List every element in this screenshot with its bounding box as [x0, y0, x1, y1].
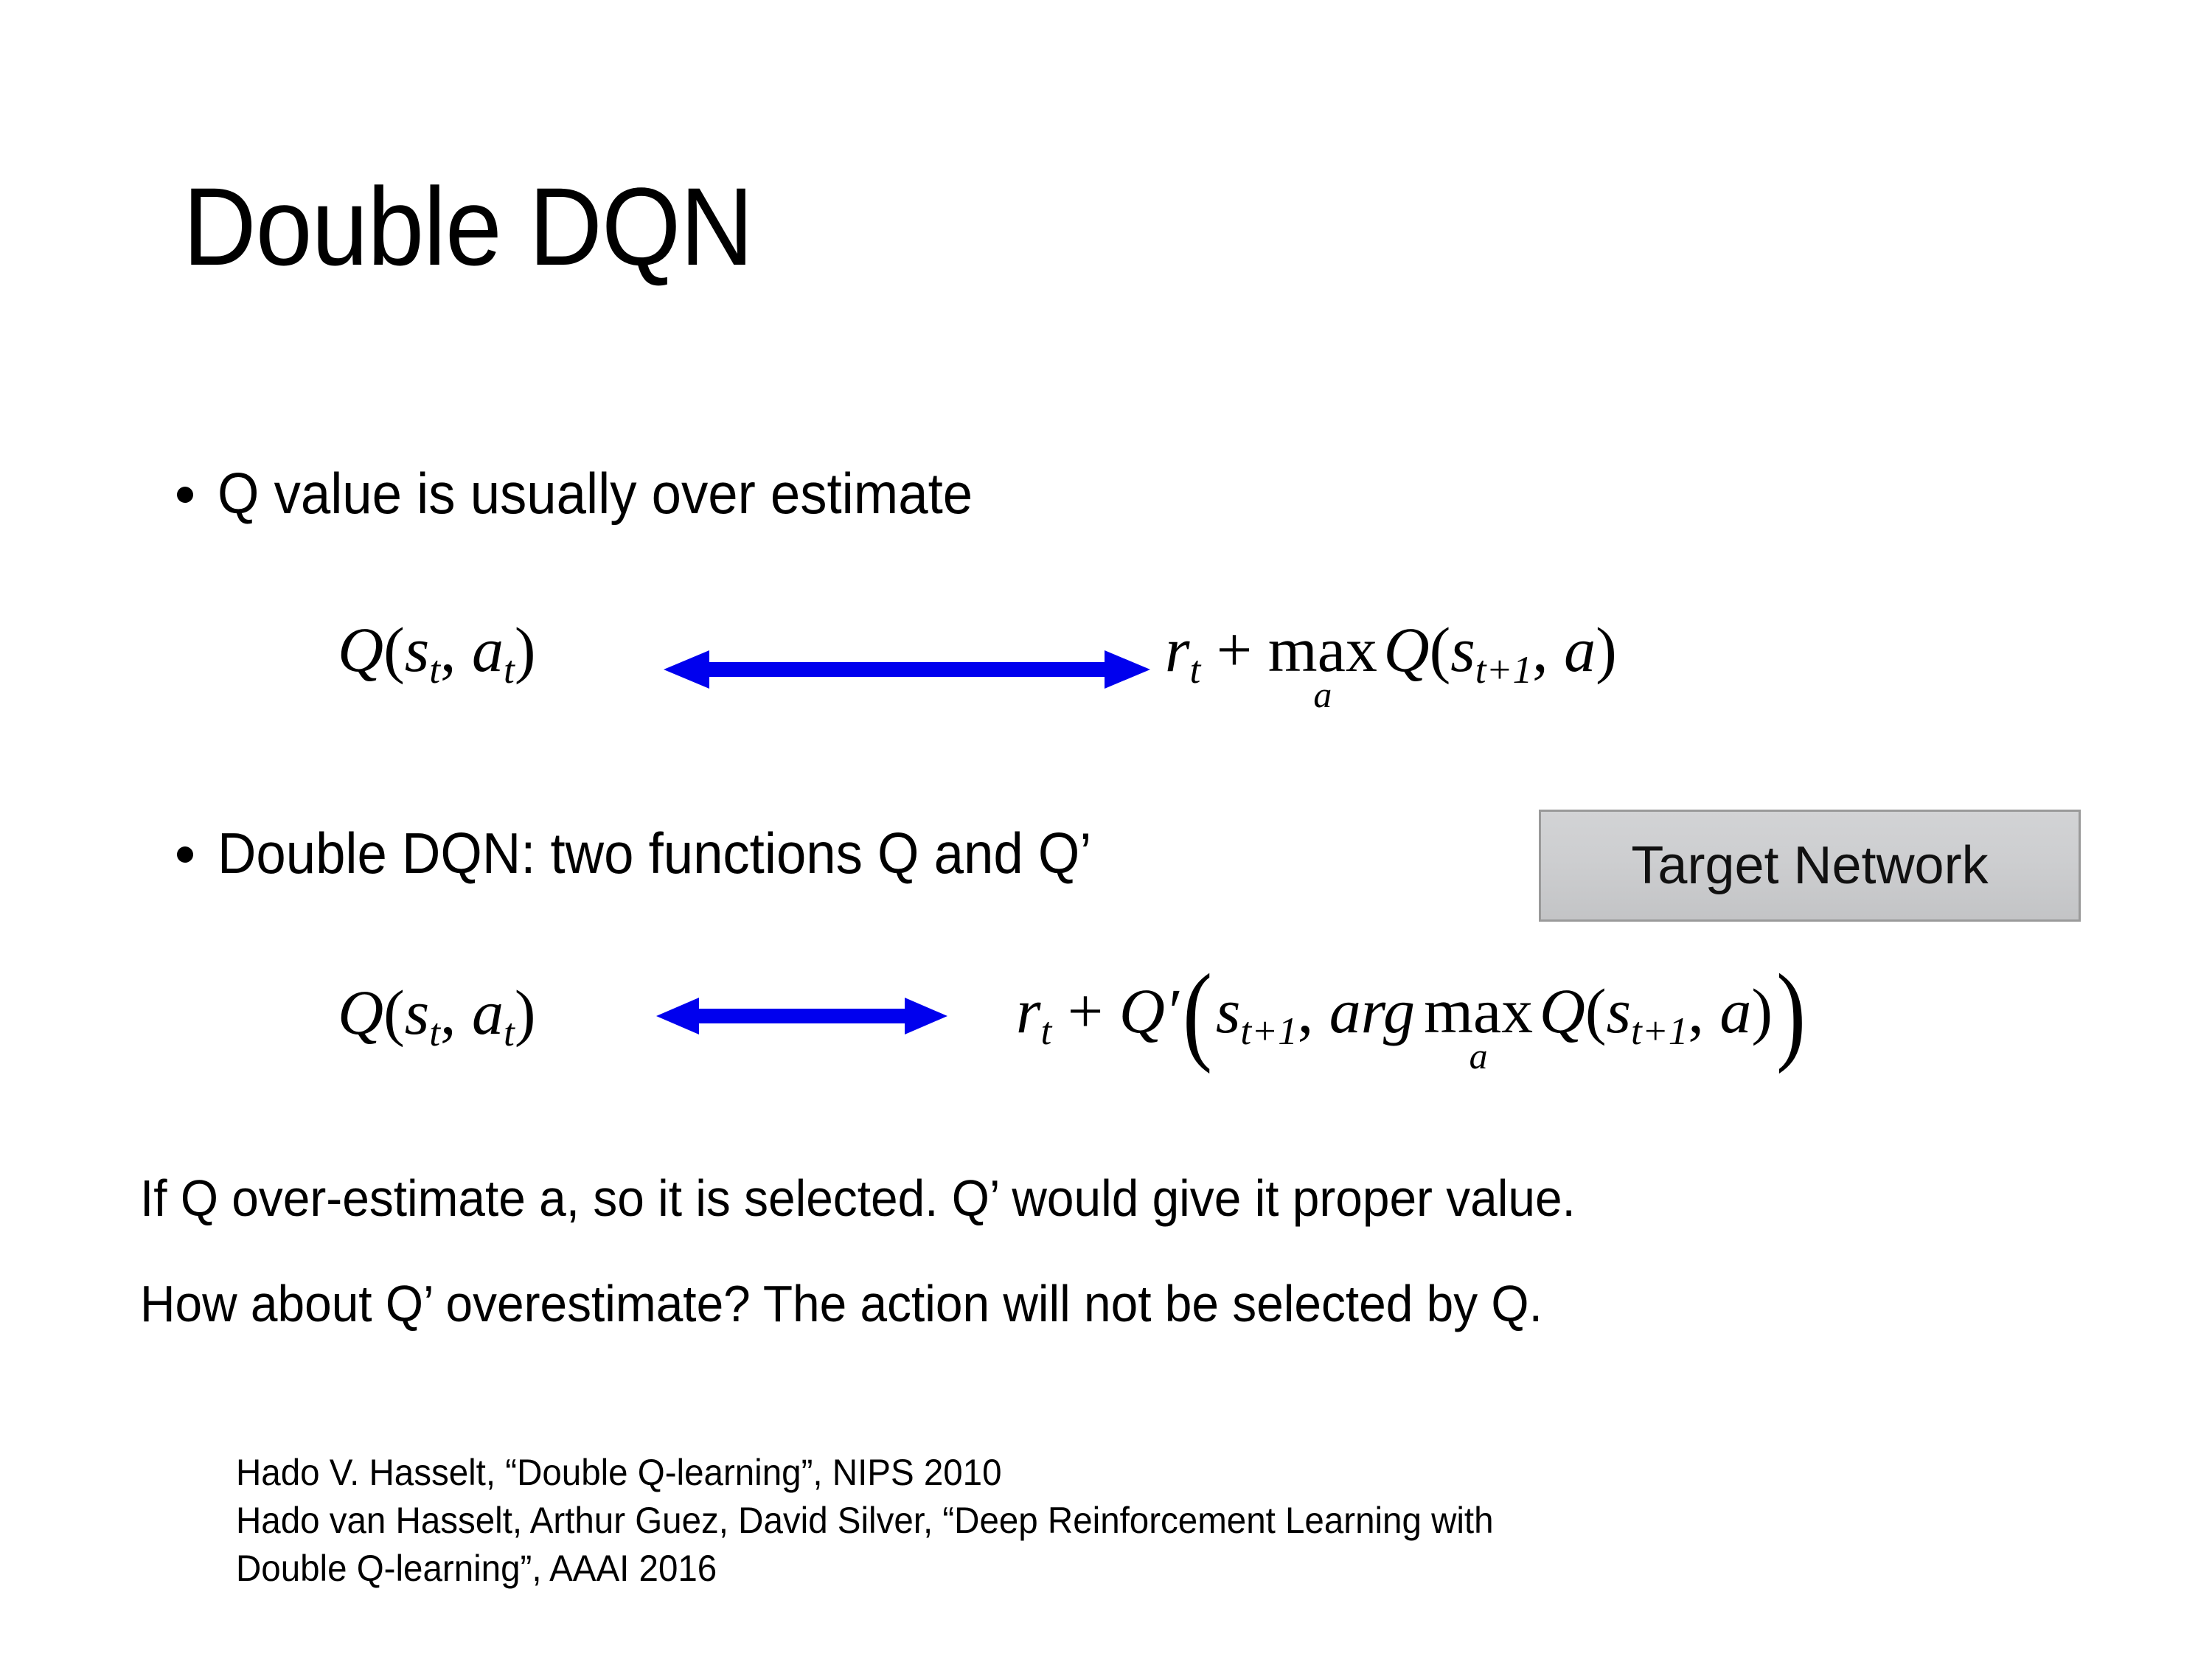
- explanation-line-1: If Q over-estimate a, so it is selected.…: [140, 1172, 1576, 1224]
- slide-canvas: Double DQN Q value is usually over estim…: [0, 0, 2212, 1659]
- eq2-rhs-max-underscript: a: [1470, 1038, 1488, 1075]
- equation-1-rhs: rt + maxaQ(st+1, a): [1165, 618, 1617, 714]
- eq1-rhs-Q: Q: [1383, 614, 1429, 685]
- eq1-rhs-max-label: max: [1268, 622, 1377, 678]
- bullet-item-2-label: Double DQN: two functions Q and Q’: [218, 824, 1091, 882]
- eq1-rhs-r-subscript: t: [1189, 647, 1200, 692]
- references-block: Hado V. Hasselt, “Double Q-learning”, NI…: [236, 1449, 1494, 1593]
- eq1-lhs-comma: ,: [440, 614, 472, 685]
- eq2-lhs-comma: ,: [440, 977, 472, 1048]
- eq1-rhs-a: a: [1564, 614, 1596, 685]
- eq2-rhs-s-subscript: t+1: [1240, 1009, 1297, 1053]
- eq2-rhs-inner-s-subscript: t+1: [1631, 1009, 1688, 1053]
- explanation-line-2: How about Q’ overestimate? The action wi…: [140, 1278, 1543, 1329]
- eq2-lhs-a: a: [472, 977, 504, 1048]
- eq1-rhs-close-paren: ): [1596, 614, 1617, 685]
- eq1-rhs-open-paren: (: [1430, 614, 1451, 685]
- eq1-lhs-open-paren: (: [383, 614, 405, 685]
- bullet-item-1-label: Q value is usually over estimate: [218, 465, 973, 522]
- eq2-rhs-max-operator: maxa: [1424, 983, 1533, 1075]
- eq1-rhs-s: s: [1450, 614, 1475, 685]
- eq1-rhs-max-operator: maxa: [1268, 622, 1377, 714]
- eq1-lhs-a-subscript: t: [504, 647, 515, 692]
- reference-line-3: Double Q-learning”, AAAI 2016: [236, 1545, 1494, 1593]
- eq2-rhs-inner-close-paren: ): [1751, 975, 1773, 1046]
- bullet-dot-icon: [177, 487, 193, 503]
- eq2-rhs-inner-Q: Q: [1540, 975, 1585, 1046]
- eq2-rhs-s: s: [1216, 975, 1240, 1046]
- reference-line-1: Hado V. Hasselt, “Double Q-learning”, NI…: [236, 1449, 1494, 1497]
- eq1-rhs-comma: ,: [1532, 614, 1564, 685]
- eq2-rhs-comma: ,: [1298, 975, 1329, 1046]
- eq2-lhs-a-subscript: t: [504, 1010, 515, 1054]
- eq1-lhs-Q: Q: [338, 614, 383, 685]
- bullet-item-1: Q value is usually over estimate: [177, 465, 1029, 522]
- reference-line-2: Hado van Hasselt, Arthur Guez, David Sil…: [236, 1497, 1494, 1545]
- equation-1-double-arrow: [664, 649, 1150, 693]
- eq2-rhs-inner-s: s: [1607, 975, 1631, 1046]
- eq1-rhs-r: r: [1165, 614, 1189, 685]
- target-network-callout: Target Network: [1539, 810, 2081, 922]
- eq2-rhs-inner-comma: ,: [1688, 975, 1719, 1046]
- eq2-rhs-max-label: max: [1424, 983, 1533, 1040]
- eq2-rhs-arg: arg: [1329, 975, 1415, 1046]
- equation-2-rhs: rt + Q′(st+1, argmaxaQ(st+1, a)): [1016, 979, 1809, 1075]
- page-title: Double DQN: [183, 171, 753, 282]
- eq2-lhs-Q: Q: [338, 977, 383, 1048]
- eq2-rhs-r: r: [1016, 975, 1040, 1046]
- eq2-lhs-s-subscript: t: [429, 1010, 440, 1054]
- eq2-lhs-close-paren: ): [515, 977, 536, 1048]
- bullet-item-2: Double DQN: two functions Q and Q’: [177, 824, 1158, 882]
- eq2-rhs-Q-prime: Q′: [1119, 975, 1179, 1046]
- equation-2-double-arrow: [656, 995, 947, 1040]
- eq2-rhs-r-subscript: t: [1040, 1009, 1051, 1053]
- eq1-lhs-a: a: [472, 614, 504, 685]
- eq1-lhs-s-subscript: t: [429, 647, 440, 692]
- eq1-rhs-max-underscript: a: [1313, 677, 1332, 714]
- eq2-rhs-inner-open-paren: (: [1585, 975, 1607, 1046]
- eq1-lhs-s: s: [405, 614, 429, 685]
- target-network-label: Target Network: [1631, 839, 1988, 892]
- bullet-dot-icon: [177, 846, 193, 863]
- eq1-lhs-close-paren: ): [515, 614, 536, 685]
- eq2-rhs-inner-a: a: [1719, 975, 1751, 1046]
- eq1-rhs-s-subscript: t+1: [1475, 647, 1532, 692]
- equation-2-lhs: Q(st, at): [338, 981, 535, 1052]
- eq2-rhs-plus: +: [1051, 975, 1119, 1046]
- eq1-rhs-plus: +: [1200, 614, 1268, 685]
- eq2-lhs-open-paren: (: [383, 977, 405, 1048]
- eq2-lhs-s: s: [405, 977, 429, 1048]
- equation-1-lhs: Q(st, at): [338, 618, 535, 689]
